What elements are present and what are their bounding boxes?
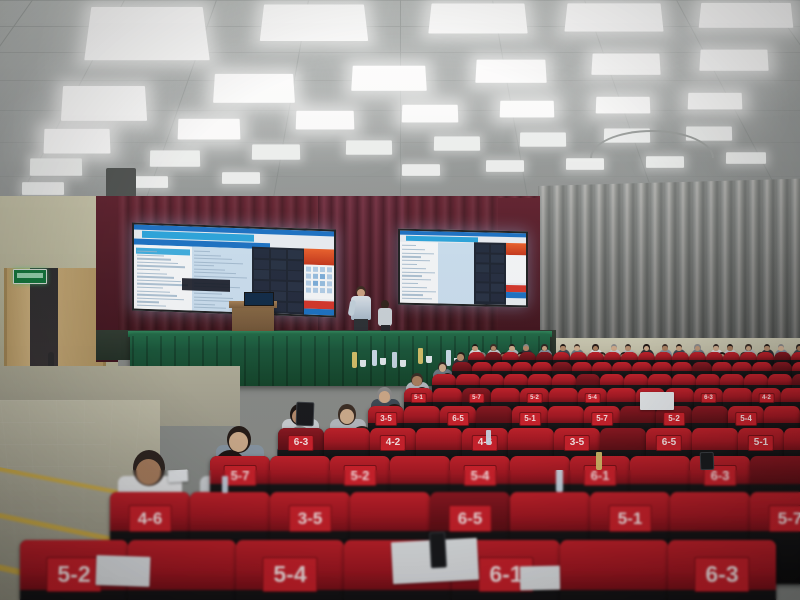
- audience-face: [676, 346, 681, 352]
- seat-number-tag: 5-2: [663, 412, 685, 426]
- smartphone[interactable]: [429, 532, 447, 569]
- seat-headrest: [723, 388, 752, 402]
- seat-headrest: [632, 362, 652, 371]
- seat-number-tag: 5-1: [609, 505, 652, 532]
- audience-face: [560, 346, 565, 352]
- ceiling-light-panel: [699, 3, 794, 28]
- seat-headrest: [750, 456, 800, 484]
- screen-thumbnail: [476, 293, 489, 301]
- table-pleat: [286, 336, 288, 386]
- seat-headrest: [772, 362, 792, 371]
- ceiling-light-panel: [44, 129, 111, 154]
- audience-face: [625, 346, 630, 352]
- table-pleat: [258, 336, 260, 386]
- seat-headrest: [572, 362, 592, 371]
- audience-face: [662, 346, 667, 352]
- seat-headrest: [732, 362, 752, 371]
- screen-thumbnail: [254, 259, 269, 269]
- ceiling-light-panel: [178, 119, 241, 140]
- seat-number-tag: 5-7: [468, 393, 485, 403]
- seat-headrest: [672, 352, 689, 360]
- floor-tile-line: [0, 444, 106, 445]
- auditorium-seat[interactable]: 5-4: [236, 540, 344, 600]
- paper-cup: [360, 360, 366, 367]
- stage-assistant: [378, 300, 392, 332]
- seat-headrest: [456, 374, 480, 385]
- seat-headrest: [612, 362, 632, 371]
- water-bottle: [372, 350, 377, 366]
- ceiling-light-panel: [150, 150, 200, 166]
- audience-face: [523, 346, 528, 352]
- screen-thumbnail: [476, 244, 489, 252]
- audience-face: [611, 346, 616, 352]
- seat-headrest: [502, 352, 519, 360]
- seat-headrest: [587, 352, 604, 360]
- seat-number-tag: 6-5: [449, 505, 492, 532]
- screen-thumbnail: [476, 264, 489, 272]
- seat-headrest: [576, 374, 600, 385]
- screen-thumbnail: [271, 249, 286, 259]
- seat-headrest: [670, 492, 750, 531]
- auditorium-seat[interactable]: 6-3: [668, 540, 776, 600]
- screen-thumbnail: [288, 260, 303, 270]
- seat-headrest: [768, 374, 792, 385]
- seat-number-tag: 5-1: [748, 435, 774, 451]
- seat-headrest: [696, 374, 720, 385]
- screen-chip: [320, 288, 325, 293]
- screen-chip: [327, 274, 332, 279]
- seat-headrest: [692, 362, 712, 371]
- seat-headrest: [655, 352, 672, 360]
- seat-headrest: [536, 352, 553, 360]
- ceiling-light-panel: [213, 74, 295, 103]
- audience-face: [457, 354, 463, 361]
- seat-number-tag: 4-2: [758, 393, 775, 403]
- seat-headrest: [433, 388, 462, 402]
- water-bottle: [392, 352, 397, 368]
- seat-headrest: [764, 406, 800, 423]
- audience-face: [379, 391, 391, 403]
- presenter: [350, 286, 372, 332]
- screen-chip: [327, 288, 332, 293]
- screen-chip: [320, 274, 325, 279]
- seat-headrest: [560, 540, 668, 590]
- seat-number-tag: 5-2: [46, 557, 101, 592]
- screen-chip: [327, 267, 332, 272]
- seat-number-tag: 3-5: [375, 412, 397, 426]
- smartphone[interactable]: [700, 452, 715, 470]
- ceiling-light-panel: [520, 132, 566, 146]
- screen-thumbnail: [476, 254, 489, 262]
- paper-cup: [380, 358, 386, 365]
- assistant-torso: [378, 308, 392, 326]
- audience-face: [412, 376, 421, 386]
- ceiling-light-panel: [596, 97, 651, 114]
- ceiling-grid-line: [0, 0, 800, 1]
- seat-number-tag: 3-5: [564, 435, 590, 451]
- seat-headrest: [510, 492, 590, 531]
- screen-thumbnail: [288, 302, 303, 312]
- drink-bottle: [556, 470, 563, 492]
- ceiling-light-panel: [346, 140, 392, 154]
- auditorium-photo: 5-15-75-25-46-16-34-24-63-56-55-15-75-25…: [0, 0, 800, 600]
- seat-headrest: [549, 388, 578, 402]
- notebook-paper: [168, 469, 189, 482]
- screen-chip: [306, 281, 311, 286]
- seat-headrest: [774, 352, 791, 360]
- ceiling-light-panel: [61, 86, 147, 121]
- seat-number-tag: 6-3: [694, 557, 749, 592]
- seat-headrest: [791, 352, 800, 360]
- seat-headrest: [784, 428, 800, 450]
- seat-number-tag: 5-7: [224, 465, 257, 486]
- water-bottle: [352, 352, 357, 368]
- screen-chip: [313, 267, 318, 272]
- ceiling-light-panel: [84, 7, 209, 60]
- screen-thumbnail: [288, 281, 303, 291]
- seat-headrest: [720, 374, 744, 385]
- screen-thumbnail: [288, 292, 303, 302]
- seat-headrest: [624, 374, 648, 385]
- audience-face: [713, 346, 718, 352]
- notebook-paper: [640, 392, 674, 410]
- table-pleat: [342, 336, 344, 386]
- ceiling-light-panel: [564, 3, 663, 31]
- ceiling-light-panel: [252, 144, 300, 159]
- screen-thumbnail: [288, 271, 303, 281]
- ceiling-light-panel: [434, 136, 480, 150]
- seat-headrest: [404, 406, 440, 423]
- seat-headrest: [672, 362, 692, 371]
- seat-headrest: [692, 428, 738, 450]
- ceiling-light-panel: [591, 54, 660, 75]
- seat-headrest: [781, 388, 800, 402]
- seat-headrest: [416, 428, 462, 450]
- screen-thumbnail: [254, 249, 269, 259]
- drink-bottle: [486, 430, 491, 445]
- ceiling-light-panel: [351, 66, 427, 91]
- audience-face: [764, 346, 769, 352]
- drink-bottle: [222, 476, 228, 493]
- seat-number-tag: 5-1: [519, 412, 541, 426]
- water-bottle: [418, 348, 423, 364]
- seat-headrest: [548, 406, 584, 423]
- ceiling-light-panel: [222, 172, 260, 184]
- ceiling-light-panel: [726, 152, 766, 164]
- seat-number-tag: 5-4: [735, 412, 757, 426]
- seat-headrest: [592, 362, 612, 371]
- seat-headrest: [600, 428, 646, 450]
- ceiling-light-panel: [688, 93, 743, 110]
- seat-headrest: [190, 492, 270, 531]
- audience-face: [727, 346, 732, 352]
- seat-headrest: [324, 428, 370, 450]
- seat-number-tag: 5-4: [464, 465, 497, 486]
- seat-headrest: [723, 352, 740, 360]
- seat-headrest: [757, 352, 774, 360]
- seat-headrest: [604, 352, 621, 360]
- seat-headrest: [638, 352, 655, 360]
- audience-face: [574, 346, 579, 352]
- seat-number-tag: 4-6: [129, 505, 172, 532]
- seat-headrest: [621, 352, 638, 360]
- seat-headrest: [692, 406, 728, 423]
- seat-headrest: [491, 388, 520, 402]
- seat-headrest: [607, 388, 636, 402]
- screen-thumbnail: [491, 254, 504, 262]
- screen-thumbnail: [271, 260, 286, 270]
- seat-number-tag: 6-5: [447, 412, 469, 426]
- seat-headrest: [600, 374, 624, 385]
- seat-number-tag: 5-4: [262, 557, 317, 592]
- seat-headrest: [630, 456, 690, 484]
- notebook-paper: [520, 566, 560, 591]
- ceiling-light-panel: [500, 101, 555, 118]
- paper-cup: [426, 356, 432, 363]
- seat-headrest: [476, 406, 512, 423]
- screen-thumbnail: [491, 274, 504, 282]
- ceiling-light-panel: [22, 182, 64, 195]
- seat-headrest: [552, 362, 572, 371]
- seat-headrest: [706, 352, 723, 360]
- seat-headrest: [485, 352, 502, 360]
- screen-thumbnail: [254, 280, 269, 290]
- seat-number-tag: 5-2: [344, 465, 377, 486]
- seat-headrest: [752, 362, 772, 371]
- floor-tile-line: [0, 400, 84, 401]
- seat-headrest: [648, 374, 672, 385]
- screen-text-line: [402, 245, 416, 246]
- ceiling-light-panel: [428, 4, 527, 34]
- smartphone[interactable]: [296, 402, 315, 427]
- table-pleat: [300, 336, 302, 386]
- ceiling-light-panel: [402, 105, 459, 123]
- ceiling-light-panel: [296, 111, 355, 130]
- seat-number-tag: 4-6: [472, 435, 498, 451]
- screen-thumbnail: [491, 245, 504, 253]
- seat-headrest: [508, 428, 554, 450]
- floor-tile-line: [0, 422, 95, 423]
- screen-chip: [306, 288, 311, 293]
- seat-headrest: [792, 362, 800, 371]
- seat-headrest: [390, 456, 450, 484]
- screen-thumbnail: [476, 274, 489, 282]
- floor-guide-strip: [0, 466, 119, 495]
- seat-headrest: [570, 352, 587, 360]
- drink-bottle: [596, 452, 602, 470]
- seat-number-tag: 5-4: [584, 393, 601, 403]
- screen-chip: [313, 281, 318, 286]
- seat-headrest: [270, 456, 330, 484]
- screen-thumbnail: [271, 281, 286, 291]
- screen-chip: [306, 267, 311, 272]
- audience-face: [136, 459, 162, 485]
- seat-headrest: [552, 374, 576, 385]
- seat-headrest: [652, 362, 672, 371]
- seat-headrest: [672, 374, 696, 385]
- ceiling-light-panel: [260, 4, 368, 41]
- table-pleat: [314, 336, 316, 386]
- seat-headrest: [512, 362, 532, 371]
- ceiling-light-panel: [475, 60, 546, 83]
- ceiling-light-panel: [402, 164, 440, 176]
- seat-number-tag: 5-7: [769, 505, 800, 532]
- projection-screen-right: [398, 229, 528, 308]
- seat-number-tag: 4-2: [380, 435, 406, 451]
- seat-headrest: [432, 374, 456, 385]
- screen-chip: [320, 267, 325, 272]
- audience-face: [778, 346, 783, 352]
- seat-number-tag: 3-5: [289, 505, 332, 532]
- seat-headrest: [472, 362, 492, 371]
- ceiling-light-panel: [566, 158, 604, 170]
- podium-monitor: [244, 292, 274, 306]
- table-pleat: [272, 336, 274, 386]
- seat-headrest: [553, 352, 570, 360]
- seat-number-tag: 6-5: [656, 435, 682, 451]
- screen-thumbnail: [491, 264, 504, 272]
- seat-headrest: [744, 374, 768, 385]
- seat-number-tag: 6-3: [700, 393, 717, 403]
- seat-headrest: [740, 352, 757, 360]
- ceiling-light-panel: [30, 158, 82, 175]
- audience-face: [472, 346, 477, 352]
- audience-face: [509, 346, 514, 352]
- screen-chip: [327, 281, 332, 286]
- seat-headrest: [452, 362, 472, 371]
- ceiling-light-panel: [486, 160, 524, 172]
- seat-headrest: [504, 374, 528, 385]
- screen-thumbnail: [491, 284, 504, 292]
- seat-headrest: [492, 362, 512, 371]
- ceiling-grid-line: [400, 0, 401, 215]
- screen-thumbnail: [476, 283, 489, 291]
- paper-cup: [400, 360, 406, 367]
- seat-headrest: [350, 492, 430, 531]
- seat-headrest: [712, 362, 732, 371]
- screen-chip: [306, 274, 311, 279]
- seat-headrest: [792, 374, 800, 385]
- seat-headrest: [689, 352, 706, 360]
- ceiling-light-panel: [699, 50, 768, 71]
- seat-number-tag: 6-3: [288, 435, 314, 451]
- seat-headrest: [532, 362, 552, 371]
- auditorium-seat[interactable]: [560, 540, 668, 600]
- screen-thumbnail: [288, 250, 303, 260]
- seat-headrest: [519, 352, 536, 360]
- screen-thumbnail: [271, 270, 286, 280]
- seat-number-tag: 5-7: [591, 412, 613, 426]
- seat-number-tag: 5-1: [410, 393, 427, 403]
- screen-thumbnail: [254, 270, 269, 280]
- seat-headrest: [528, 374, 552, 385]
- table-pleat: [244, 336, 246, 386]
- seat-headrest: [468, 352, 485, 360]
- seat-number-tag: 5-2: [526, 393, 543, 403]
- screen-chip: [313, 288, 318, 293]
- screen-chip: [320, 281, 325, 286]
- screen-chip: [313, 274, 318, 279]
- exit-sign-icon: [13, 269, 47, 284]
- screen-thumbnail: [491, 294, 504, 302]
- seat-headrest: [480, 374, 504, 385]
- notebook-paper: [95, 555, 150, 587]
- table-pleat: [328, 336, 330, 386]
